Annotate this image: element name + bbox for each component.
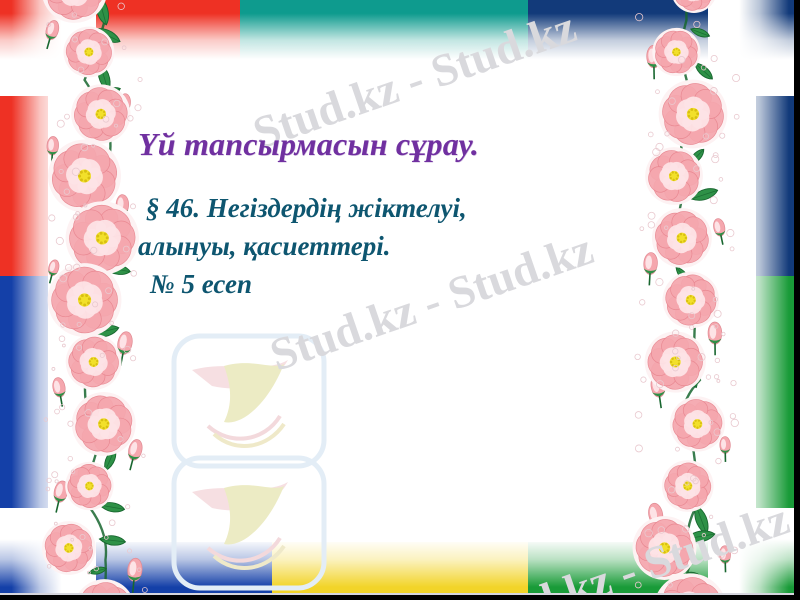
slide-title: Үй тапсырмасын сұрау. — [138, 126, 658, 163]
window-bottom-chrome — [0, 593, 800, 600]
slide-body-line-3: № 5 есеп — [138, 265, 658, 303]
slide-body-line-2: алынуы, қасиеттері. — [138, 227, 658, 265]
floral-border-left — [34, 0, 154, 600]
slide-body-line-1: § 46. Негіздердің жіктелуі, — [138, 189, 658, 227]
presentation-slide: Stud.kz - Stud.kz Stud.kz - Stud.kz Stud… — [0, 0, 800, 600]
window-right-chrome — [794, 0, 800, 600]
slide-text-block: Үй тапсырмасын сұрау. § 46. Негіздердің … — [138, 126, 658, 304]
stud-kz-bird-logo-icon — [168, 452, 338, 600]
